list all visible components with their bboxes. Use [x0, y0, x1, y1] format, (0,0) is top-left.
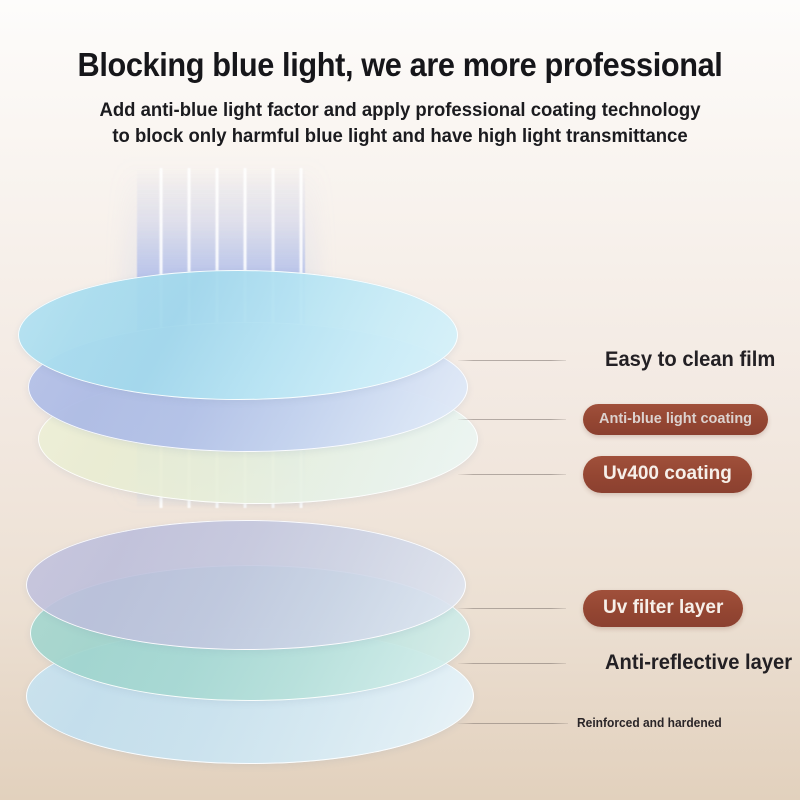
leader-line-icon [458, 474, 566, 475]
callout-label-uv400: Uv400 coating [583, 456, 752, 493]
callout-uvfilter: Uv filter layer [458, 590, 743, 627]
callout-clean: Easy to clean film [458, 348, 782, 372]
callout-labels: Easy to clean film Anti-blue light coati… [0, 0, 800, 800]
leader-line-icon [458, 723, 568, 724]
callout-antireflect: Anti-reflective layer [458, 651, 800, 675]
callout-label-antireflect: Anti-reflective layer [605, 651, 792, 675]
leader-line-icon [458, 663, 566, 664]
callout-label-uvfilter: Uv filter layer [583, 590, 743, 627]
leader-line-icon [458, 360, 566, 361]
callout-reinforced: Reinforced and hardened [458, 716, 728, 730]
leader-line-icon [458, 419, 566, 420]
callout-label-clean: Easy to clean film [605, 348, 775, 372]
callout-uv400: Uv400 coating [458, 456, 752, 493]
blue-light-lens-poster: Blocking blue light, we are more profess… [0, 0, 800, 800]
leader-line-icon [458, 608, 566, 609]
callout-antiblue: Anti-blue light coating [458, 404, 768, 435]
callout-label-antiblue: Anti-blue light coating [583, 404, 768, 435]
callout-label-reinforced: Reinforced and hardened [577, 716, 722, 730]
